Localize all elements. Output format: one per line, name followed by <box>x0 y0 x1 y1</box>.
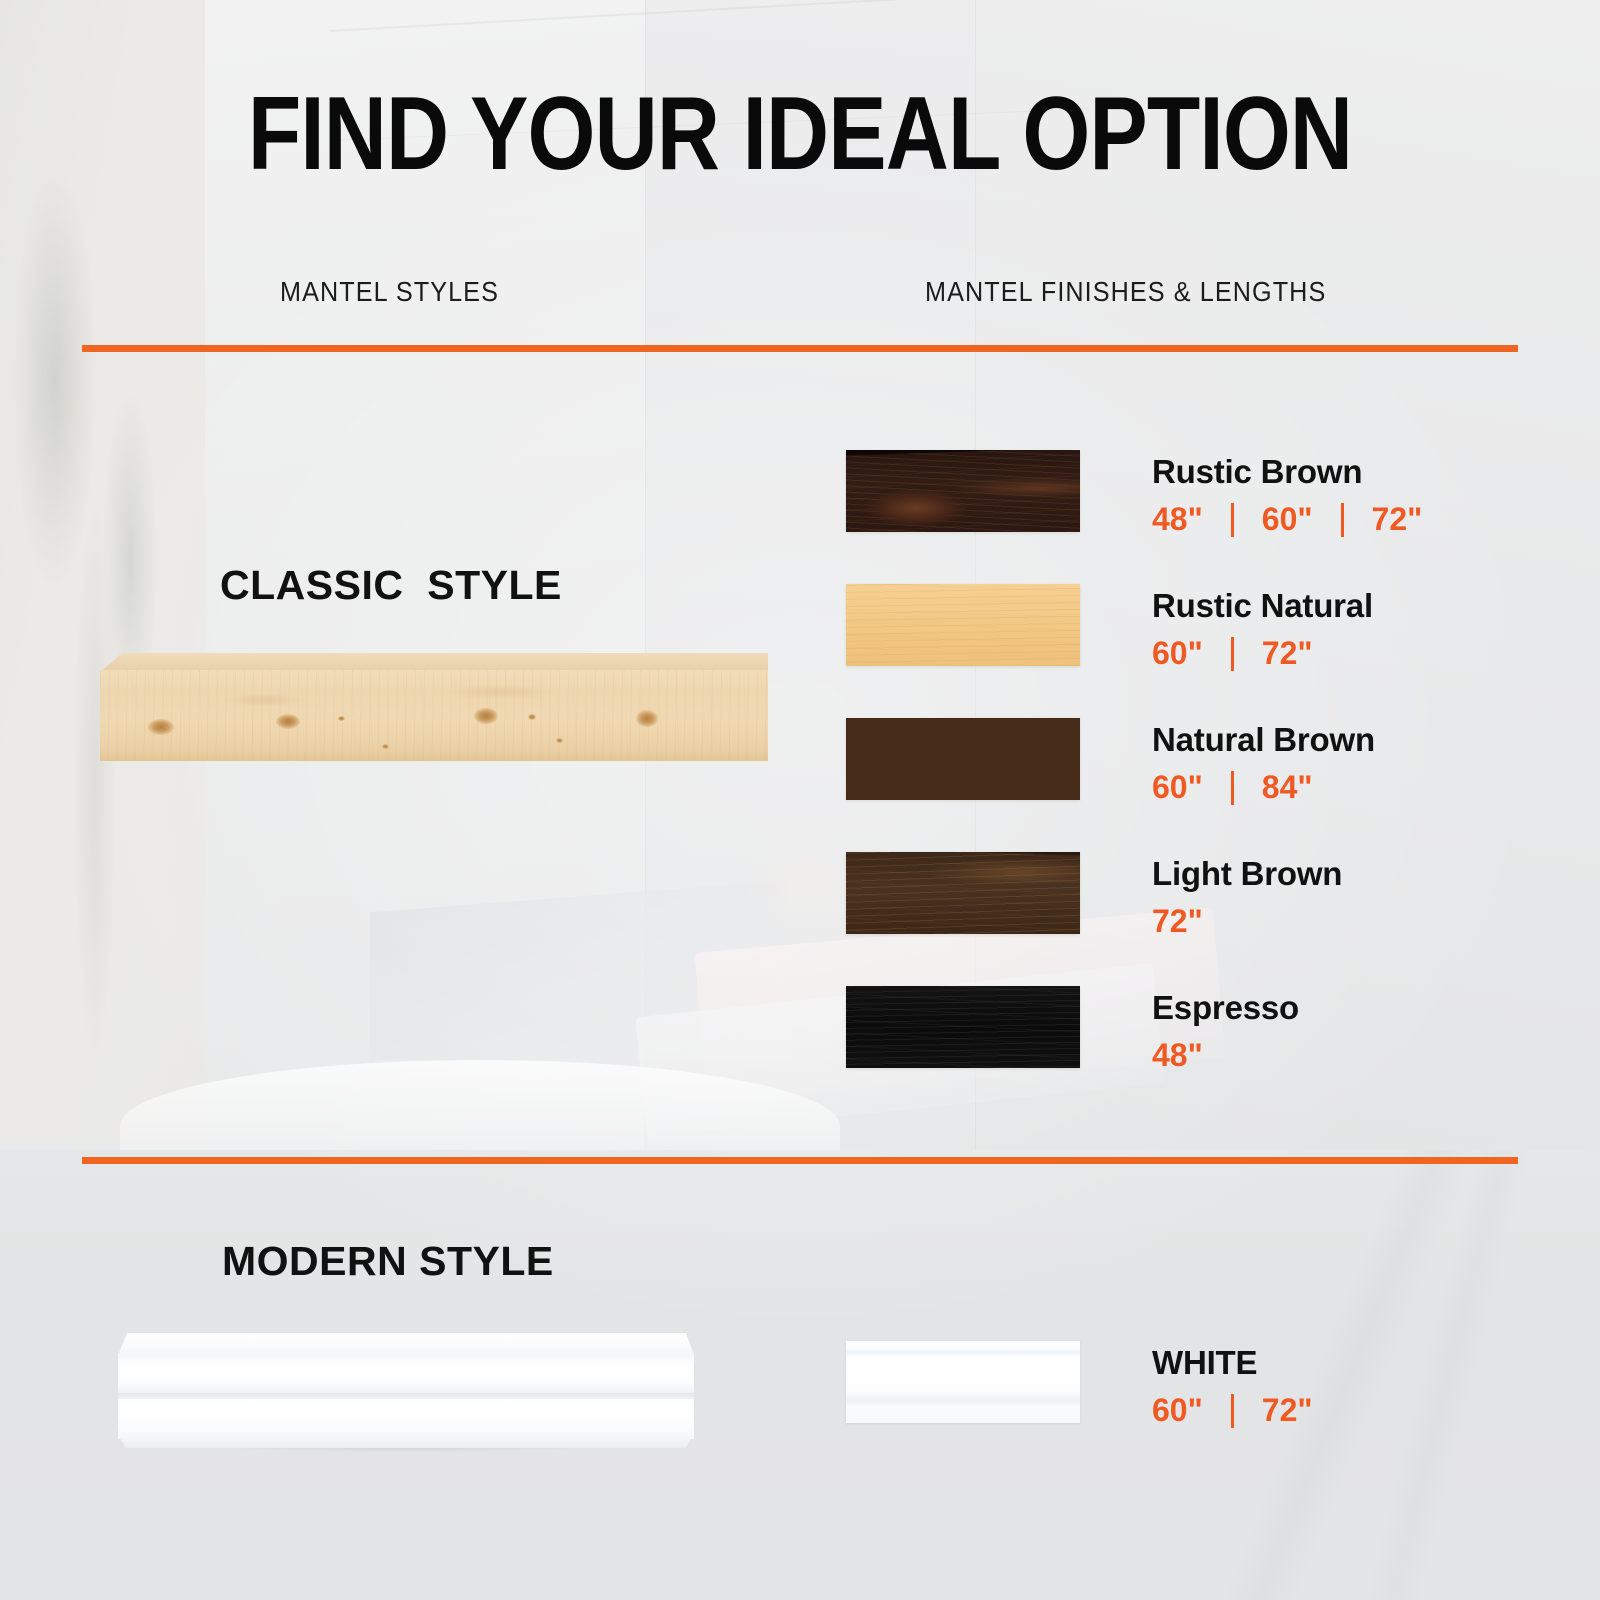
finish-name-espresso: Espresso <box>1152 989 1299 1027</box>
product-image-modern-white-mantel <box>118 1333 694 1451</box>
column-heading-mantel-finishes: MANTEL FINISHES & LENGTHS <box>925 276 1326 308</box>
size-option: 60" <box>1262 501 1313 538</box>
divider-top <box>82 345 1518 352</box>
divider-bottom <box>82 1157 1518 1164</box>
swatch-espresso <box>846 986 1080 1068</box>
mantel-top-face <box>118 1333 694 1355</box>
mantel-bottom-edge <box>118 1435 694 1448</box>
page-title: FIND YOUR IDEAL OPTION <box>128 82 1472 186</box>
mantel-cove-profile <box>118 1353 694 1395</box>
size-option: 72" <box>1372 501 1423 538</box>
style-title-modern: MODERN STYLE <box>222 1238 554 1285</box>
beam-knot <box>276 714 300 729</box>
size-separator <box>1231 637 1234 671</box>
beam-knot <box>528 714 536 720</box>
mantel-lower-face <box>118 1399 694 1439</box>
finish-sizes-espresso: 48" <box>1152 1037 1203 1074</box>
size-separator <box>1341 503 1344 537</box>
size-option: 60" <box>1152 635 1203 672</box>
size-option: 48" <box>1152 1037 1203 1074</box>
size-option: 60" <box>1152 769 1203 806</box>
style-title-classic: CLASSIC STYLE <box>220 562 562 609</box>
size-option: 72" <box>1152 903 1203 940</box>
beam-knot <box>148 719 174 735</box>
swatch-rustic-natural <box>846 584 1080 666</box>
swatch-light-brown <box>846 852 1080 934</box>
swatch-rustic-brown <box>846 450 1080 532</box>
product-image-classic-beam-mantel <box>100 653 768 761</box>
finish-name-rustic-natural: Rustic Natural <box>1152 587 1373 625</box>
size-option: 84" <box>1262 769 1313 806</box>
size-option: 72" <box>1262 1392 1313 1429</box>
finish-sizes-rustic-natural: 60" 72" <box>1152 635 1313 672</box>
finish-name-light-brown: Light Brown <box>1152 855 1342 893</box>
beam-knot <box>556 738 563 743</box>
finish-name-white: WHITE <box>1152 1344 1257 1382</box>
beam-knot <box>474 708 498 724</box>
size-option: 72" <box>1262 635 1313 672</box>
finish-sizes-white: 60" 72" <box>1152 1392 1313 1429</box>
beam-front-face <box>100 670 768 761</box>
beam-wood-grain <box>100 670 768 761</box>
infographic-canvas: FIND YOUR IDEAL OPTION MANTEL STYLES MAN… <box>0 0 1600 1600</box>
beam-knot <box>338 716 345 721</box>
size-option: 60" <box>1152 1392 1203 1429</box>
beam-knot <box>382 744 389 749</box>
beam-knot <box>636 710 658 727</box>
size-separator <box>1231 771 1234 805</box>
finish-name-rustic-brown: Rustic Brown <box>1152 453 1362 491</box>
finish-name-natural-brown: Natural Brown <box>1152 721 1375 759</box>
finish-sizes-rustic-brown: 48" 60" 72" <box>1152 501 1422 538</box>
finish-sizes-natural-brown: 60" 84" <box>1152 769 1313 806</box>
finish-sizes-light-brown: 72" <box>1152 903 1203 940</box>
column-heading-mantel-styles: MANTEL STYLES <box>280 276 499 308</box>
size-separator <box>1231 503 1234 537</box>
swatch-natural-brown <box>846 718 1080 800</box>
size-separator <box>1231 1394 1234 1428</box>
swatch-white <box>846 1341 1080 1423</box>
size-option: 48" <box>1152 501 1203 538</box>
